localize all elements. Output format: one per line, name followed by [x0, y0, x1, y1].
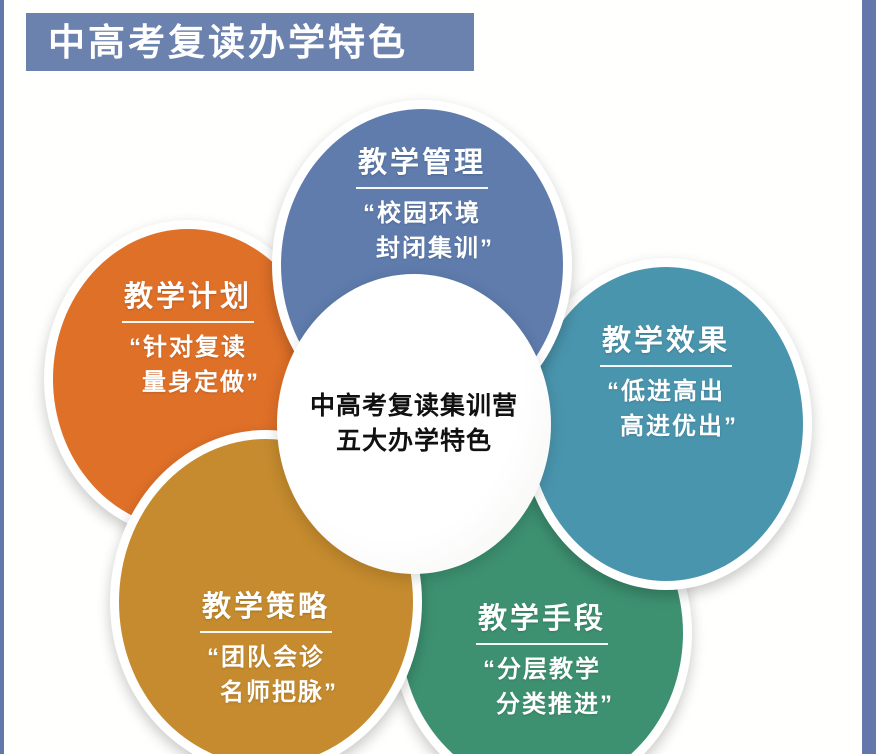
- right-edge-stripe: [862, 0, 876, 754]
- petal-fill-right: 教学效果 “低进高出 高进优出”: [529, 267, 803, 581]
- petal-divider-bottom-right: [476, 643, 608, 645]
- petal-subtitle-bottom-left: “团队会诊 名师把脉”: [119, 641, 413, 711]
- infographic-canvas: 中高考复读办学特色 教学管理 “校园环境 封闭集训” 教学计划: [0, 0, 876, 754]
- petal-subtitle-line2-top: 封闭集训”: [281, 232, 563, 267]
- petal-divider-bottom-left: [200, 631, 332, 633]
- petal-subtitle-line1-bottom-left: “团队会诊: [119, 641, 413, 676]
- petal-subtitle-line1-bottom-right: “分层教学: [401, 653, 683, 688]
- petal-content-right: 教学效果 “低进高出 高进优出”: [529, 325, 803, 445]
- petal-subtitle-bottom-right: “分层教学 分类推进”: [401, 653, 683, 723]
- petal-subtitle-right: “低进高出 高进优出”: [529, 375, 803, 445]
- page-title-banner: 中高考复读办学特色: [26, 13, 474, 71]
- petal-content-bottom-right: 教学手段 “分层教学 分类推进”: [401, 603, 683, 723]
- petal-title-top: 教学管理: [281, 147, 563, 180]
- petal-title-bottom-left: 教学策略: [119, 591, 413, 624]
- petal-subtitle-line1-left: “针对复读: [53, 331, 323, 366]
- center-circle[interactable]: 中高考复读集训营 五大办学特色: [277, 274, 551, 574]
- petal-subtitle-line1-top: “校园环境: [281, 197, 563, 232]
- petal-content-top: 教学管理 “校园环境 封闭集训”: [281, 147, 563, 267]
- petal-subtitle-top: “校园环境 封闭集训”: [281, 197, 563, 267]
- petal-content-bottom-left: 教学策略 “团队会诊 名师把脉”: [119, 591, 413, 711]
- petal-subtitle-line2-right: 高进优出”: [529, 410, 803, 445]
- petal-divider-top: [356, 187, 488, 189]
- five-petal-diagram: 教学管理 “校园环境 封闭集训” 教学计划 “针对复读 量身定做”: [0, 78, 862, 754]
- petal-subtitle-line2-bottom-right: 分类推进”: [401, 688, 683, 723]
- center-label-line2: 五大办学特色: [310, 424, 518, 460]
- petal-subtitle-line2-bottom-left: 名师把脉”: [119, 676, 413, 711]
- page-title: 中高考复读办学特色: [26, 24, 408, 61]
- center-label-line1: 中高考复读集训营: [310, 389, 518, 425]
- petal-title-bottom-right: 教学手段: [401, 603, 683, 636]
- petal-divider-left: [122, 321, 254, 323]
- center-label: 中高考复读集训营 五大办学特色: [310, 389, 518, 460]
- petal-title-right: 教学效果: [529, 325, 803, 358]
- petal-subtitle-line1-right: “低进高出: [529, 375, 803, 410]
- petal-divider-right: [600, 365, 732, 367]
